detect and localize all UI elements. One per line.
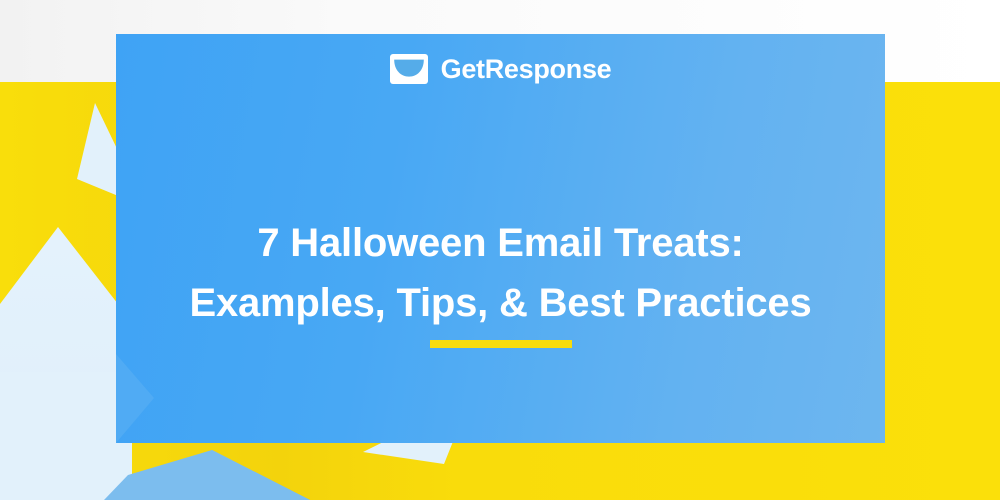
- panel-inner-wedge: [116, 354, 246, 443]
- envelope-icon: [390, 54, 428, 84]
- brand-name: GetResponse: [441, 56, 612, 83]
- blog-cover-image: GetResponse 7 Halloween Email Treats: Ex…: [0, 0, 1000, 500]
- accent-divider: [430, 340, 572, 348]
- page-title-line-2: Examples, Tips, & Best Practices: [156, 273, 845, 333]
- hero-panel: GetResponse 7 Halloween Email Treats: Ex…: [116, 34, 885, 443]
- brand-logo: GetResponse: [116, 54, 885, 84]
- pale-slab-shape: [0, 372, 132, 500]
- page-title: 7 Halloween Email Treats: Examples, Tips…: [116, 213, 885, 333]
- page-title-line-1: 7 Halloween Email Treats:: [156, 213, 845, 273]
